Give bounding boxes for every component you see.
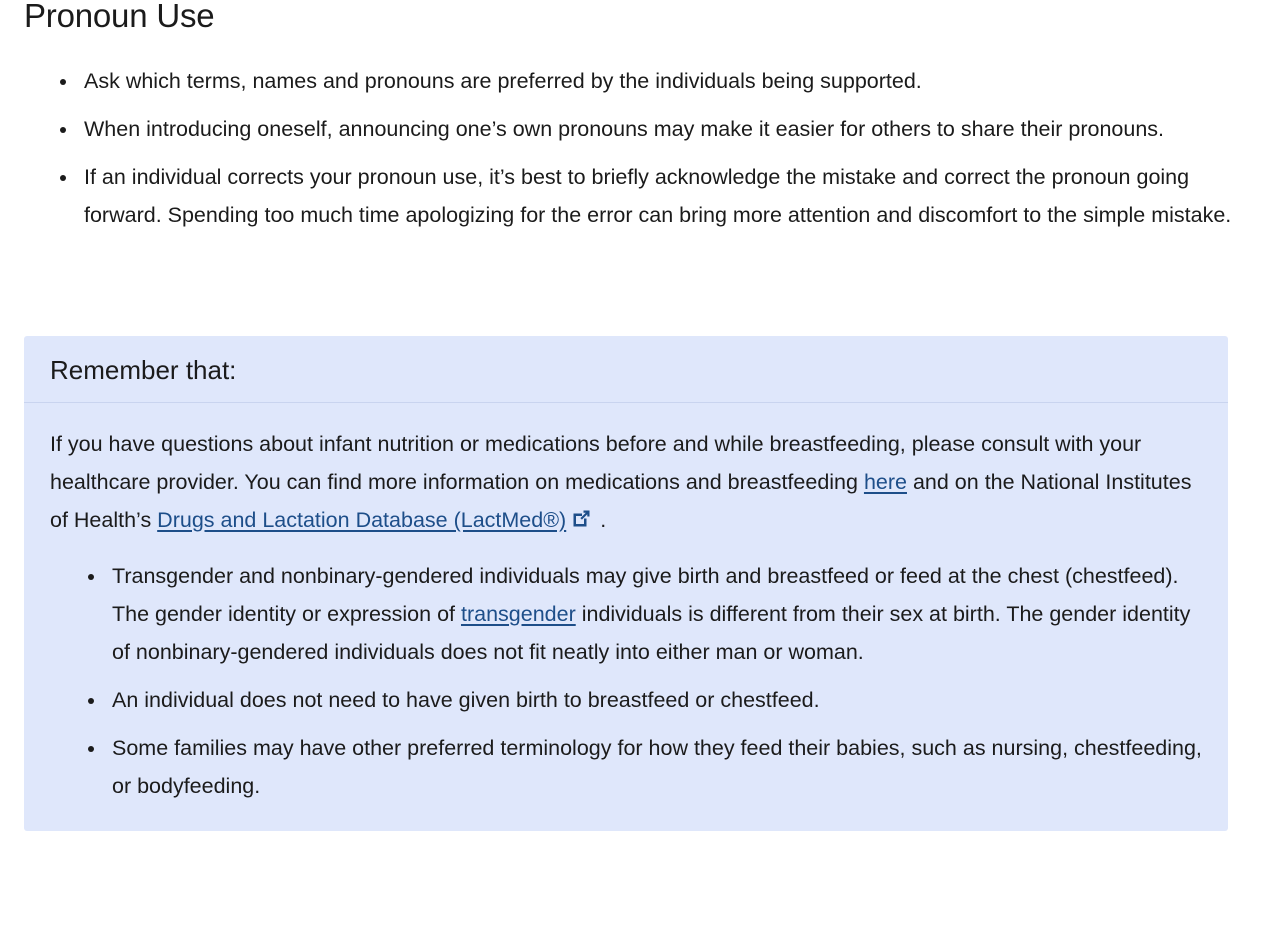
list-item: An individual does not need to have give… <box>86 681 1202 719</box>
page-title: Pronoun Use <box>0 0 214 36</box>
callout-header: Remember that: <box>24 336 1228 403</box>
external-link-icon[interactable] <box>571 503 592 541</box>
callout-paragraph: If you have questions about infant nutri… <box>50 425 1202 541</box>
list-item: Some families may have other preferred t… <box>86 729 1202 805</box>
list-item-text: When introducing oneself, announcing one… <box>84 117 1164 141</box>
list-item: Transgender and nonbinary-gendered indiv… <box>86 557 1202 671</box>
lactmed-database-link[interactable]: Drugs and Lactation Database (LactMed®) <box>157 508 566 532</box>
here-link[interactable]: here <box>864 470 907 494</box>
list-item-text: If an individual corrects your pronoun u… <box>84 165 1231 227</box>
paragraph-text-part-3: . <box>594 508 606 532</box>
callout-title: Remember that: <box>50 354 1202 386</box>
callout-bullet-list: Transgender and nonbinary-gendered indiv… <box>50 557 1202 805</box>
list-item: If an individual corrects your pronoun u… <box>58 158 1240 234</box>
transgender-link[interactable]: transgender <box>461 602 576 626</box>
list-item-text: An individual does not need to have give… <box>112 688 820 712</box>
pronoun-use-bullet-list: Ask which terms, names and pronouns are … <box>0 62 1240 244</box>
remember-that-callout: Remember that: If you have questions abo… <box>24 336 1228 831</box>
list-item: Ask which terms, names and pronouns are … <box>58 62 1240 100</box>
callout-body: If you have questions about infant nutri… <box>24 403 1228 831</box>
page-container: Pronoun Use Ask which terms, names and p… <box>0 0 1282 937</box>
list-item-text: Ask which terms, names and pronouns are … <box>84 69 922 93</box>
list-item-text: Some families may have other preferred t… <box>112 736 1202 798</box>
list-item: When introducing oneself, announcing one… <box>58 110 1240 148</box>
